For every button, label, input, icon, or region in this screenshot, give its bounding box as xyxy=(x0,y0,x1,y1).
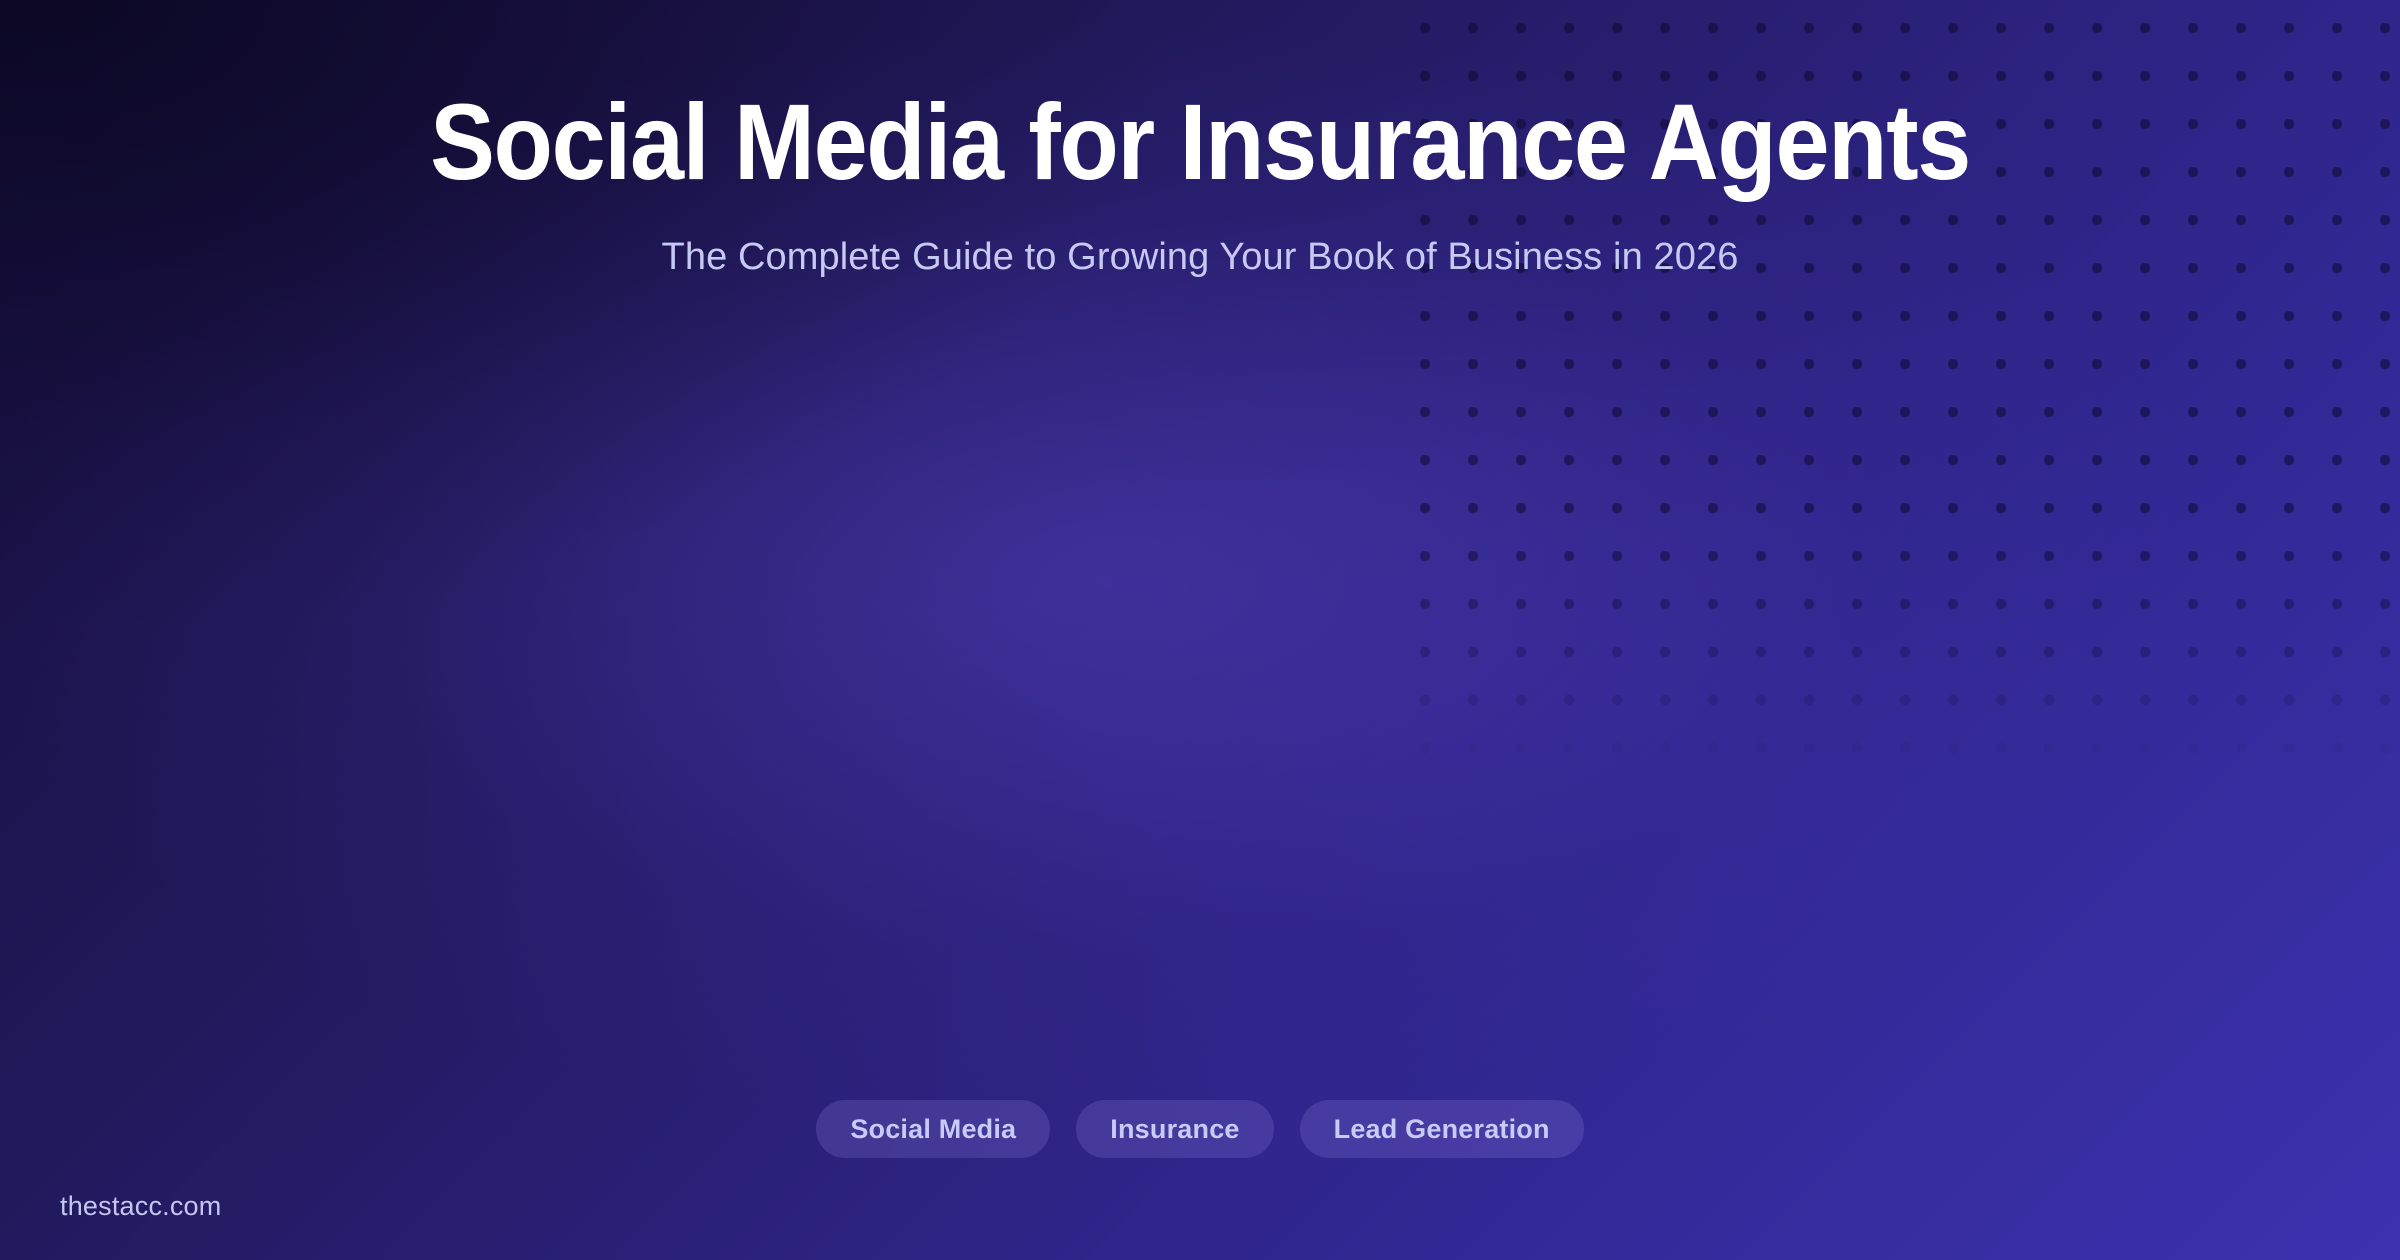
page-title: Social Media for Insurance Agents xyxy=(120,86,2280,198)
tag-row: Social Media Insurance Lead Generation xyxy=(0,1100,2400,1158)
tag-social-media[interactable]: Social Media xyxy=(816,1100,1050,1158)
page-subtitle: The Complete Guide to Growing Your Book … xyxy=(0,234,2400,282)
tag-insurance[interactable]: Insurance xyxy=(1076,1100,1273,1158)
title-card: Social Media for Insurance Agents The Co… xyxy=(0,0,2400,1260)
headline-block: Social Media for Insurance Agents The Co… xyxy=(0,86,2400,282)
card-content: Social Media for Insurance Agents The Co… xyxy=(0,0,2400,1260)
site-url: thestacc.com xyxy=(60,1191,221,1222)
tag-lead-generation[interactable]: Lead Generation xyxy=(1300,1100,1584,1158)
